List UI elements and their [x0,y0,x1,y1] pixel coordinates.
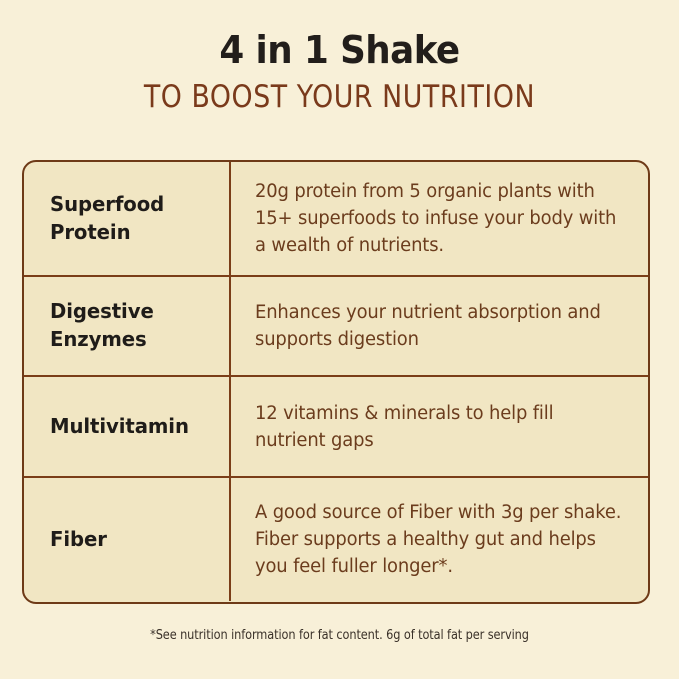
benefit-description: 12 vitamins & minerals to help fill nutr… [255,400,623,454]
benefit-description: Enhances your nutrient absorption and su… [255,299,623,353]
table-row: Multivitamin 12 vitamins & minerals to h… [24,375,648,476]
table-cell-label: Superfood Protein [24,162,231,275]
benefit-label: Multivitamin [50,413,189,441]
product-benefits-infographic: 4 in 1 Shake TO BOOST YOUR NUTRITION Sup… [0,0,679,679]
page-title: 4 in 1 Shake [20,30,658,71]
benefit-label: Digestive Enzymes [50,298,222,353]
benefit-description: A good source of Fiber with 3g per shake… [255,499,623,580]
benefit-description: 20g protein from 5 organic plants with 1… [255,178,623,259]
table-cell-label: Digestive Enzymes [24,277,231,375]
footnote: *See nutrition information for fat conte… [10,628,669,643]
benefit-label: Superfood Protein [50,191,222,246]
table-cell-description: 20g protein from 5 organic plants with 1… [231,162,648,275]
table-cell-description: 12 vitamins & minerals to help fill nutr… [231,377,648,476]
benefits-table: Superfood Protein 20g protein from 5 org… [22,160,650,604]
page-subtitle: TO BOOST YOUR NUTRITION [14,80,666,114]
table-row: Digestive Enzymes Enhances your nutrient… [24,275,648,375]
table-cell-description: Enhances your nutrient absorption and su… [231,277,648,375]
table-row: Fiber A good source of Fiber with 3g per… [24,476,648,601]
header: 4 in 1 Shake TO BOOST YOUR NUTRITION [0,30,679,114]
table-row: Superfood Protein 20g protein from 5 org… [24,162,648,275]
table-cell-label: Multivitamin [24,377,231,476]
table-cell-description: A good source of Fiber with 3g per shake… [231,478,648,601]
table-cell-label: Fiber [24,478,231,601]
benefit-label: Fiber [50,526,107,554]
